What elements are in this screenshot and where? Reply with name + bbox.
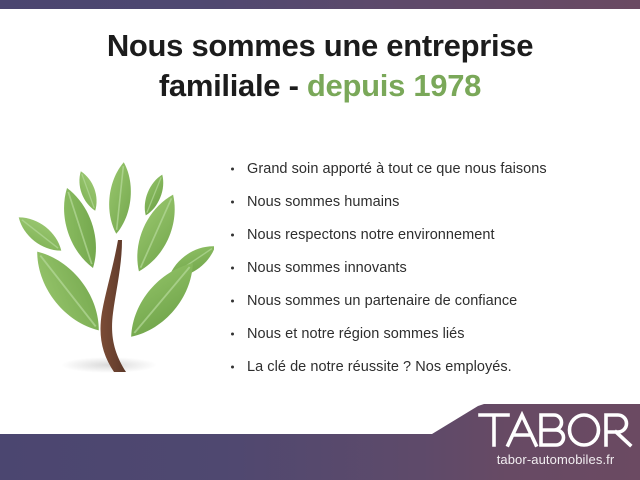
- logo-letter-O: [570, 415, 599, 445]
- list-item-label: Nous sommes un partenaire de confiance: [247, 293, 517, 309]
- title-line-1: Nous sommes une entreprise: [0, 28, 640, 65]
- bullet-dot-icon: [231, 233, 234, 236]
- title-line-2: familiale - depuis 1978: [0, 68, 640, 105]
- list-item-label: Nous sommes innovants: [247, 260, 407, 276]
- benefits-list: Grand soin apporté à tout ce que nous fa…: [231, 152, 631, 383]
- bullet-dot-icon: [231, 200, 234, 203]
- list-item-label: Nous sommes humains: [247, 194, 399, 210]
- logo-letter-T: [480, 415, 508, 445]
- leaf-upper-left: [55, 184, 105, 272]
- leaf-top-center: [106, 161, 134, 235]
- bullet-dot-icon: [231, 299, 234, 302]
- list-item: Nous respectons notre environnement: [231, 218, 631, 251]
- bullet-dot-icon: [231, 365, 234, 368]
- tabor-logo[interactable]: [478, 411, 633, 449]
- title-line-2-plain: familiale -: [159, 68, 307, 103]
- list-item-label: La clé de notre réussite ? Nos employés.: [247, 359, 512, 375]
- bullet-dot-icon: [231, 167, 234, 170]
- leaf-lower-left: [24, 241, 112, 340]
- list-item: Nous sommes innovants: [231, 251, 631, 284]
- list-item: La clé de notre réussite ? Nos employés.: [231, 350, 631, 383]
- logo-letter-B: [541, 415, 564, 445]
- list-item: Nous sommes humains: [231, 185, 631, 218]
- slide-canvas: Nous sommes une entreprise familiale - d…: [0, 0, 640, 480]
- title-accent-since: depuis 1978: [307, 68, 481, 103]
- list-item-label: Grand soin apporté à tout ce que nous fa…: [247, 161, 547, 177]
- logo-website-label[interactable]: tabor-automobiles.fr: [478, 452, 633, 467]
- bullet-dot-icon: [231, 266, 234, 269]
- leaf-mid-left-small: [14, 210, 67, 257]
- page-title: Nous sommes une entreprise familiale - d…: [0, 28, 640, 104]
- list-item: Nous sommes un partenaire de confiance: [231, 284, 631, 317]
- list-item: Nous et notre région sommes liés: [231, 317, 631, 350]
- leaf-lower-right: [119, 253, 205, 347]
- tree-illustration: [14, 150, 214, 392]
- list-item: Grand soin apporté à tout ce que nous fa…: [231, 152, 631, 185]
- logo-letter-R: [606, 415, 630, 445]
- list-item-label: Nous respectons notre environnement: [247, 227, 495, 243]
- top-accent-bar: [0, 0, 640, 9]
- logo-letter-A: [508, 415, 536, 445]
- list-item-label: Nous et notre région sommes liés: [247, 326, 465, 342]
- bullet-dot-icon: [231, 332, 234, 335]
- tree-trunk: [101, 240, 127, 372]
